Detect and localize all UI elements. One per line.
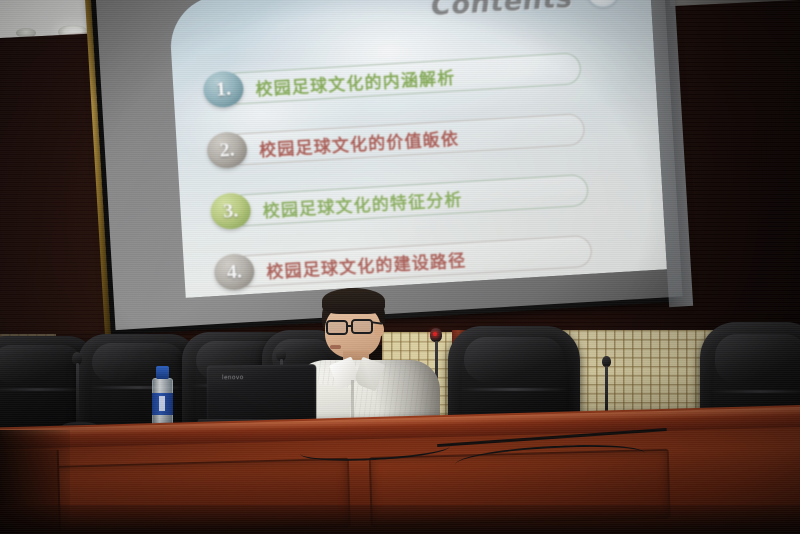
laptop-brand-label: lenovo — [222, 374, 244, 381]
slide-item-list: 1. 校园足球文化的内涵解析 2. 校园足球文化的价值皈依 3. 校园足球文化的… — [203, 49, 647, 298]
mouth — [330, 345, 341, 349]
desk-bottom-shadow — [0, 505, 800, 534]
bottle-label — [152, 393, 173, 415]
list-item: 3. 校园足球文化的特征分析 — [210, 171, 641, 229]
conference-room-photo: Contents 1. 校园足球文化的内涵解析 2. — [0, 0, 800, 534]
water-bottle — [152, 366, 173, 430]
eyeglasses-bridge — [347, 325, 352, 327]
hair-fringe — [322, 288, 385, 314]
laptop-lid: lenovo — [207, 364, 316, 422]
presentation-slide: Contents 1. 校园足球文化的内涵解析 2. — [168, 0, 667, 298]
eyeglasses-left-lens — [326, 320, 348, 335]
bottle-cap — [156, 366, 169, 379]
list-item: 2. 校园足球文化的价值皈依 — [206, 110, 637, 168]
eyeglasses-right-lens — [351, 319, 373, 334]
screen-surface: Contents 1. 校园足球文化的内涵解析 2. — [95, 0, 682, 330]
projection-screen: Contents 1. 校园足球文化的内涵解析 2. — [90, 0, 688, 335]
